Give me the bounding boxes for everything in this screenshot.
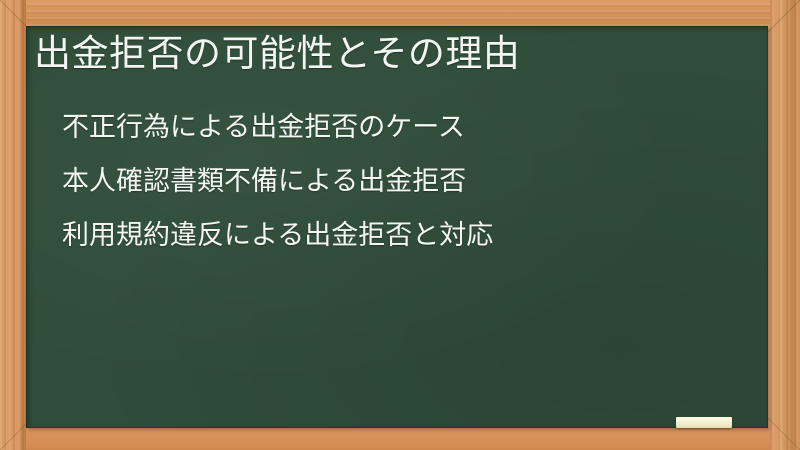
frame-right-stile: [770, 0, 800, 450]
chalkboard-surface: 出金拒否の可能性とその理由 不正行為による出金拒否のケース 本人確認書類不備によ…: [26, 26, 768, 428]
chalkboard-slide: 出金拒否の可能性とその理由 不正行為による出金拒否のケース 本人確認書類不備によ…: [0, 0, 800, 450]
bullet-item-3: 利用規約違反による出金拒否と対応: [62, 222, 493, 249]
bullet-item-2: 本人確認書類不備による出金拒否: [62, 168, 493, 195]
slide-title: 出金拒否の可能性とその理由: [34, 32, 520, 76]
frame-bottom-ledge: [0, 428, 800, 450]
bullet-list: 不正行為による出金拒否のケース 本人確認書類不備による出金拒否 利用規約違反によ…: [62, 114, 493, 249]
chalk-stick-icon: [676, 417, 732, 428]
frame-top-rail: [0, 0, 800, 26]
frame-left-stile: [0, 0, 26, 450]
bullet-item-1: 不正行為による出金拒否のケース: [62, 114, 493, 141]
